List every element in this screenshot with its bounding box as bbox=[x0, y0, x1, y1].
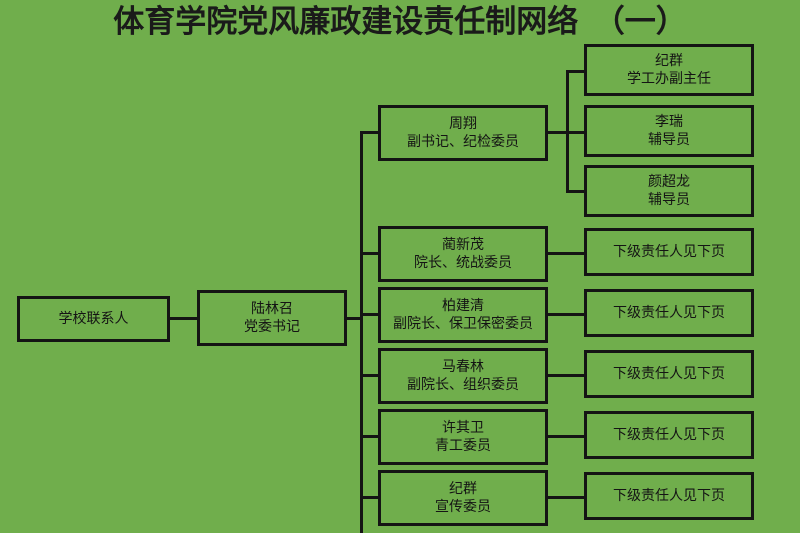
node-school-contact-name: 学校联系人 bbox=[59, 310, 129, 328]
node-root-role: 党委书记 bbox=[244, 318, 300, 336]
node-branch-1-child-2-role: 辅导员 bbox=[648, 131, 690, 149]
connector-branch-5-to-note bbox=[548, 435, 584, 438]
connector-branch-2-to-note bbox=[548, 252, 584, 255]
node-branch-3[interactable]: 柏建清 副院长、保卫保密委员 bbox=[378, 287, 548, 343]
node-next-page-note-2[interactable]: 下级责任人见下页 bbox=[584, 289, 754, 337]
page-title: 体育学院党风廉政建设责任制网络 （一） bbox=[0, 4, 800, 40]
connector-branch-6-to-note bbox=[548, 496, 584, 499]
connector-subtrunk-to-child-1 bbox=[566, 70, 584, 73]
connector-branch-1-to-subtrunk bbox=[548, 131, 566, 134]
node-branch-2-role: 院长、统战委员 bbox=[414, 254, 512, 272]
node-next-page-note-1[interactable]: 下级责任人见下页 bbox=[584, 228, 754, 276]
node-next-page-note-4[interactable]: 下级责任人见下页 bbox=[584, 411, 754, 459]
node-branch-4-role: 副院长、组织委员 bbox=[407, 376, 519, 394]
node-branch-1[interactable]: 周翔 副书记、纪检委员 bbox=[378, 105, 548, 161]
node-branch-1-role: 副书记、纪检委员 bbox=[407, 133, 519, 151]
node-branch-2-name: 蔺新茂 bbox=[442, 236, 484, 254]
node-branch-6-name: 纪群 bbox=[449, 480, 477, 498]
node-root-name: 陆林召 bbox=[251, 300, 293, 318]
node-branch-1-child-2-name: 李瑞 bbox=[655, 113, 683, 131]
node-branch-3-name: 柏建清 bbox=[442, 297, 484, 315]
node-branch-1-child-3[interactable]: 颜超龙 辅导员 bbox=[584, 165, 754, 217]
node-branch-1-child-2[interactable]: 李瑞 辅导员 bbox=[584, 105, 754, 157]
node-branch-5-role: 青工委员 bbox=[435, 437, 491, 455]
node-branch-1-child-3-role: 辅导员 bbox=[648, 191, 690, 209]
main-trunk-line bbox=[360, 132, 363, 533]
connector-subtrunk-to-child-2 bbox=[566, 131, 584, 134]
node-next-page-note-4-label: 下级责任人见下页 bbox=[613, 426, 725, 444]
node-branch-1-name: 周翔 bbox=[449, 115, 477, 133]
node-next-page-note-3[interactable]: 下级责任人见下页 bbox=[584, 350, 754, 398]
node-branch-6[interactable]: 纪群 宣传委员 bbox=[378, 470, 548, 526]
node-branch-1-child-1-role: 学工办副主任 bbox=[627, 70, 711, 88]
node-branch-1-child-1[interactable]: 纪群 学工办副主任 bbox=[584, 44, 754, 96]
connector-subtrunk-to-child-3 bbox=[566, 190, 584, 193]
connector-trunk-to-branch-5 bbox=[360, 435, 378, 438]
node-branch-2[interactable]: 蔺新茂 院长、统战委员 bbox=[378, 226, 548, 282]
node-root[interactable]: 陆林召 党委书记 bbox=[197, 290, 347, 346]
node-next-page-note-3-label: 下级责任人见下页 bbox=[613, 365, 725, 383]
node-school-contact[interactable]: 学校联系人 bbox=[17, 296, 170, 342]
node-branch-1-child-3-name: 颜超龙 bbox=[648, 173, 690, 191]
connector-trunk-to-branch-1 bbox=[360, 131, 378, 134]
node-next-page-note-5[interactable]: 下级责任人见下页 bbox=[584, 472, 754, 520]
node-branch-5-name: 许其卫 bbox=[442, 419, 484, 437]
connector-trunk-to-branch-6 bbox=[360, 496, 378, 499]
node-next-page-note-2-label: 下级责任人见下页 bbox=[613, 304, 725, 322]
node-branch-4[interactable]: 马春林 副院长、组织委员 bbox=[378, 348, 548, 404]
node-next-page-note-5-label: 下级责任人见下页 bbox=[613, 487, 725, 505]
connector-trunk-to-branch-3 bbox=[360, 313, 378, 316]
node-branch-4-name: 马春林 bbox=[442, 358, 484, 376]
org-chart-canvas: 体育学院党风廉政建设责任制网络 （一） 学校联系人 陆林召 党委书记 周翔 副书… bbox=[0, 0, 800, 533]
connector-contact-to-root bbox=[170, 317, 197, 320]
node-branch-5[interactable]: 许其卫 青工委员 bbox=[378, 409, 548, 465]
connector-trunk-to-branch-2 bbox=[360, 252, 378, 255]
node-branch-6-role: 宣传委员 bbox=[435, 498, 491, 516]
connector-branch-4-to-note bbox=[548, 374, 584, 377]
connector-trunk-to-branch-4 bbox=[360, 374, 378, 377]
node-branch-3-role: 副院长、保卫保密委员 bbox=[393, 315, 533, 333]
node-branch-1-child-1-name: 纪群 bbox=[655, 52, 683, 70]
connector-branch-3-to-note bbox=[548, 313, 584, 316]
node-next-page-note-1-label: 下级责任人见下页 bbox=[613, 243, 725, 261]
